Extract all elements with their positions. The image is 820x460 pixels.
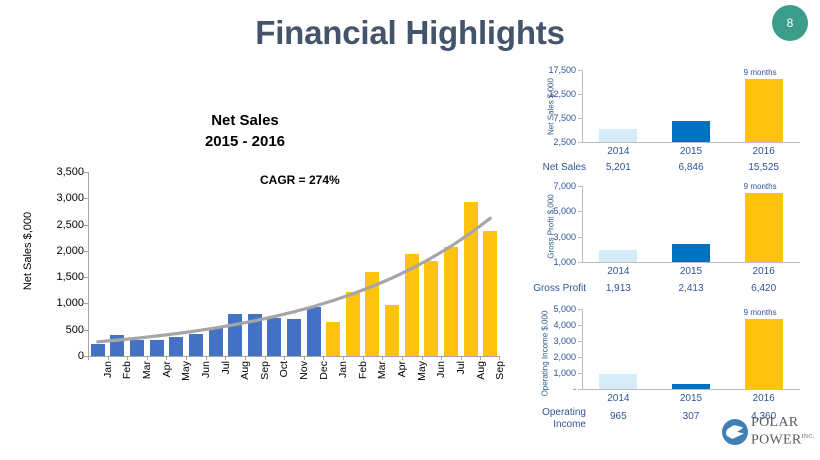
bar-2016 [745,79,783,142]
bar-2014 [599,129,637,142]
y-tick-label: 17,500 [520,65,576,75]
y-axis-line [582,309,583,389]
x-tick-label: Feb [121,361,133,379]
x-tick-label: Sep [259,361,271,380]
data-value-2015: 307 [661,411,721,422]
x-axis-line [582,389,800,390]
globe-icon [722,419,748,445]
y-tick-label: 3,500 [0,166,84,178]
trendline [88,165,500,360]
x-tick-label-2015: 2015 [661,146,721,157]
x-tick-label: Feb [357,361,369,379]
x-tick-label: Jan [102,361,114,378]
x-tick-label: Jun [435,361,447,378]
operating-income-annual-chart: Operating Income $,000-1,0002,0003,0004,… [520,305,820,425]
data-value-2016: 15,525 [734,162,794,173]
x-tick-label: Aug [475,361,487,380]
logo-wordmark: POLAR POWERINC. [751,416,815,448]
y-tick-label: 0 [0,350,84,362]
data-value-2015: 6,846 [661,162,721,173]
y-axis-line [582,186,583,262]
x-tick-label-2016: 2016 [734,146,794,157]
y-tick-label: - [520,384,576,394]
bar-2015 [672,121,710,142]
y-tick-label: 1,500 [0,271,84,283]
y-tick-label: 12,500 [520,89,576,99]
data-value-2015: 2,413 [661,283,721,294]
company-logo: POLAR POWERINC. [722,415,818,449]
x-axis-line [582,262,800,263]
nine-months-note: 9 months [744,68,777,77]
y-tick-label: 5,000 [520,206,576,216]
y-tick-label: 5,000 [520,304,576,314]
data-value-2014: 1,913 [588,283,648,294]
x-tick-label: Oct [278,361,290,377]
x-tick-label-2014: 2014 [588,393,648,404]
x-axis-line [582,142,800,143]
logo-suffix: INC. [802,434,815,440]
y-tick-label: 4,000 [520,320,576,330]
x-tick-label: Mar [141,361,153,379]
y-axis-line [582,70,583,142]
x-tick-label: May [180,361,192,381]
x-tick-label-2014: 2014 [588,266,648,277]
x-tick-label: Aug [239,361,251,380]
y-tick-label: 1,000 [520,368,576,378]
page-title: Financial Highlights [0,14,820,52]
x-tick-label-2016: 2016 [734,393,794,404]
bar-2014 [599,250,637,262]
logo-line-2: POWER [751,433,802,448]
x-tick-label: Apr [396,361,408,377]
nine-months-note: 9 months [744,182,777,191]
x-tick-label: Nov [298,361,310,380]
chart-title: Net Sales 2015 - 2016 [120,110,370,152]
bar-2014 [599,374,637,389]
y-tick-label: 1,000 [520,257,576,267]
net-sales-monthly-chart: Net Sales 2015 - 2016 CAGR = 274% Net Sa… [0,105,510,405]
data-value-2016: 6,420 [734,283,794,294]
x-tick-label-2016: 2016 [734,266,794,277]
metric-row-label: Gross Profit [520,283,586,295]
bar-2016 [745,319,783,389]
x-tick-label: Apr [161,361,173,377]
y-tick-label: 2,500 [520,137,576,147]
gross-profit-annual-chart: Gross Profit $,0001,0003,0005,0007,00020… [520,180,820,295]
y-tick-label: 3,000 [520,232,576,242]
nine-months-note: 9 months [744,308,777,317]
x-tick-label-2015: 2015 [661,393,721,404]
logo-line-1: POLAR [751,416,815,430]
y-tick-label: 2,000 [0,245,84,257]
y-tick-label: 3,000 [520,336,576,346]
y-tick-label: 7,500 [520,113,576,123]
metric-row-label: Net Sales [520,162,586,174]
x-tick-label-2015: 2015 [661,266,721,277]
x-tick-label: Jun [200,361,212,378]
y-tick-label: 7,000 [520,181,576,191]
data-value-2014: 965 [588,411,648,422]
x-tick-label: Jan [337,361,349,378]
bar-2015 [672,384,710,389]
data-value-2014: 5,201 [588,162,648,173]
y-tick-label: 500 [0,324,84,336]
logo-line-2-wrap: POWERINC. [751,430,815,448]
x-tick-label: Mar [376,361,388,379]
x-tick-label: Dec [318,361,330,380]
x-tick-label: Jul [220,361,232,374]
x-tick-label: Sep [494,361,506,380]
y-tick-label: 2,000 [520,352,576,362]
bar-2016 [745,193,783,262]
x-tick-label: Jul [455,361,467,374]
x-tick-label: May [416,361,428,381]
metric-row-label: Operating Income [520,407,586,431]
y-tick-label: 2,500 [0,219,84,231]
y-tick-label: 3,000 [0,192,84,204]
bar-2015 [672,244,710,262]
net-sales-annual-chart: Net Sales $,0002,5007,50012,50017,500201… [520,62,820,170]
x-tick-label-2014: 2014 [588,146,648,157]
y-tick-label: 1,000 [0,297,84,309]
